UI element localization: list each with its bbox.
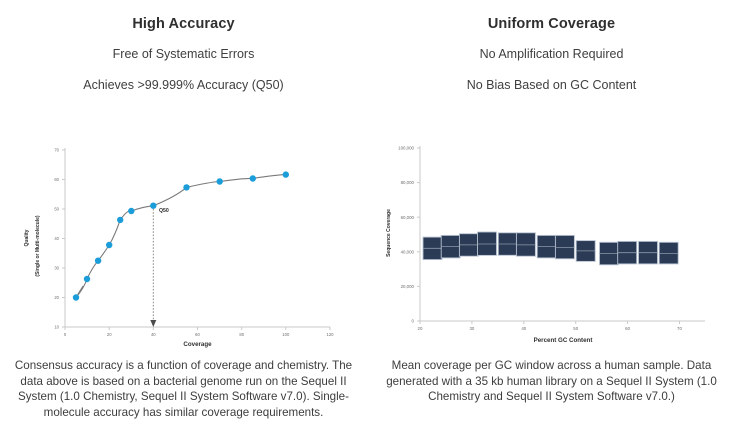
data-point [84, 276, 90, 282]
data-point [250, 175, 256, 181]
q50-annotation-label: Q50 [159, 208, 169, 214]
panel-uniform-coverage: Uniform Coverage No Amplification Requir… [368, 0, 735, 443]
y-tick-label: 50 [54, 207, 59, 212]
box-item [576, 241, 595, 262]
y-tick-label: 80,000 [401, 180, 415, 185]
caption-left: Consensus accuracy is a function of cove… [0, 358, 367, 420]
y-tick-label: 60 [54, 177, 59, 182]
comparison-page: High Accuracy Free of Systematic Errors … [0, 0, 735, 443]
y-tick-label: 40 [54, 236, 59, 241]
q50-arrow-icon [150, 320, 156, 327]
panel-subtitle-left-2: Achieves >99.999% Accuracy (Q50) [0, 78, 367, 92]
panel-subtitle-left-1: Free of Systematic Errors [0, 47, 367, 61]
x-tick-label: 20 [418, 326, 423, 331]
y-axis-ticks: 0 20,000 40,000 60,000 80,000 100,000 [398, 146, 420, 324]
accuracy-data-points [73, 171, 289, 300]
x-tick-label: 50 [573, 326, 578, 331]
data-point [150, 203, 156, 209]
panel-title-left: High Accuracy [0, 16, 367, 32]
data-point [73, 294, 79, 300]
box-item [516, 233, 535, 256]
coverage-boxes [423, 232, 678, 265]
x-tick-label: 40 [521, 326, 526, 331]
y-axis-ticks: 70 60 50 40 30 20 10 [54, 148, 65, 330]
y-axis-title: Sequence Coverage [386, 209, 392, 257]
accuracy-curve [76, 175, 286, 298]
data-point [183, 184, 189, 190]
box-item [441, 235, 460, 258]
x-axis-ticks: 20 30 40 50 60 70 [418, 321, 683, 331]
box-item [498, 233, 517, 256]
x-tick-label: 80 [239, 332, 244, 337]
x-axis-ticks: 0 20 40 60 80 100 120 [64, 327, 334, 337]
panel-subtitle-right-1: No Amplification Required [368, 47, 735, 61]
data-point [128, 208, 134, 214]
x-tick-label: 0 [64, 332, 67, 337]
box-item [537, 235, 556, 258]
panel-title-right: Uniform Coverage [368, 16, 735, 32]
y-tick-label: 30 [54, 266, 59, 271]
y-tick-label: 100,000 [398, 146, 414, 151]
data-point [106, 242, 112, 248]
x-tick-label: 70 [677, 326, 682, 331]
data-point [95, 258, 101, 264]
y-tick-label: 40,000 [401, 249, 415, 254]
data-point [117, 217, 123, 223]
box-item [478, 232, 497, 255]
caption-right: Mean coverage per GC window across a hum… [368, 358, 735, 405]
y-tick-label: 10 [54, 325, 59, 330]
x-tick-label: 100 [282, 332, 290, 337]
x-axis-title: Percent GC Content [534, 337, 593, 344]
y-tick-label: 0 [412, 319, 415, 324]
panel-high-accuracy: High Accuracy Free of Systematic Errors … [0, 0, 367, 443]
x-tick-label: 120 [327, 332, 335, 337]
box-item [555, 235, 574, 258]
data-point [217, 178, 223, 184]
gc-coverage-chart: 0 20,000 40,000 60,000 80,000 100,000 20 [368, 128, 735, 353]
y-tick-label: 70 [54, 148, 59, 153]
box-item [618, 241, 637, 264]
gc-coverage-chart-svg: 0 20,000 40,000 60,000 80,000 100,000 20 [368, 128, 735, 353]
accuracy-chart-svg: 70 60 50 40 30 20 10 0 [0, 128, 367, 353]
box-item [423, 237, 442, 260]
x-tick-label: 60 [625, 326, 630, 331]
x-tick-label: 20 [107, 332, 112, 337]
data-point [283, 171, 289, 177]
box-item [600, 242, 619, 264]
x-axis-title: Coverage [183, 341, 212, 348]
y-axis-title-line2: (Single or Multi-molecule) [35, 215, 41, 276]
y-tick-label: 60,000 [401, 215, 415, 220]
y-axis-title-line1: Quality [24, 229, 30, 246]
x-tick-label: 40 [151, 332, 156, 337]
accuracy-chart: 70 60 50 40 30 20 10 0 [0, 128, 367, 353]
y-tick-label: 20,000 [401, 284, 415, 289]
y-tick-label: 20 [54, 295, 59, 300]
x-tick-label: 60 [195, 332, 200, 337]
box-item [639, 241, 658, 264]
panel-subtitle-right-2: No Bias Based on GC Content [368, 78, 735, 92]
x-tick-label: 30 [469, 326, 474, 331]
box-item [459, 234, 478, 257]
box-item [659, 242, 678, 264]
